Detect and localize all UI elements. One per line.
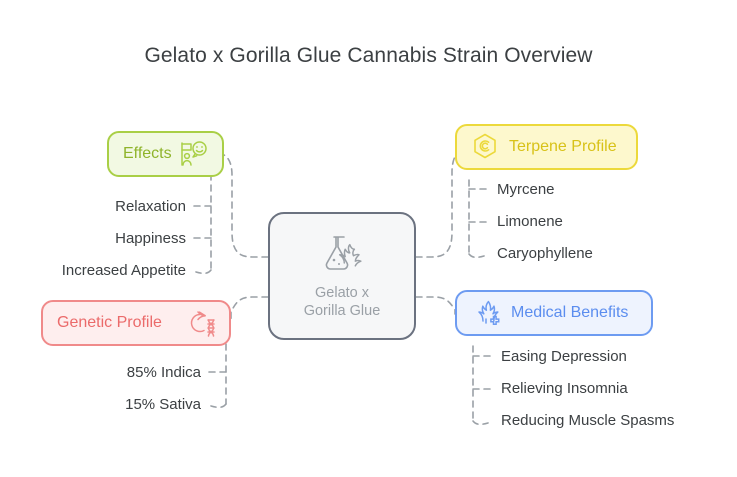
leaf-medical-1: Easing Depression (501, 348, 627, 366)
leaf-terpene-1: Myrcene (497, 181, 555, 199)
mindmap-canvas: Gelato x Gorilla Glue Cannabis Strain Ov… (0, 0, 737, 477)
dna-magnifier-icon (185, 309, 215, 337)
center-label-line2: Gorilla Glue (304, 302, 381, 320)
hexagon-spiral-icon (471, 132, 499, 162)
branch-label-terpene-profile: Terpene Profile (509, 138, 617, 156)
branch-label-genetic-profile: Genetic Profile (57, 314, 162, 332)
leaf-genetic-2: 15% Sativa (0, 396, 201, 414)
center-label-line1: Gelato x (304, 284, 381, 302)
leaf-terpene-2: Limonene (497, 213, 563, 231)
leaf-genetic-1: 85% Indica (0, 364, 201, 382)
leaf-effects-2: Happiness (0, 230, 186, 248)
leaf-medical-2: Relieving Insomnia (501, 380, 628, 398)
leaf-terpene-3: Caryophyllene (497, 245, 593, 263)
branch-label-medical-benefits: Medical Benefits (511, 304, 628, 322)
leaf-effects-1: Relaxation (0, 198, 186, 216)
branch-node-medical-benefits[interactable]: Medical Benefits (455, 290, 653, 336)
branch-label-effects: Effects (123, 145, 172, 163)
branch-node-effects[interactable]: Effects (107, 131, 224, 177)
center-node[interactable]: Gelato x Gorilla Glue (268, 212, 416, 340)
branch-node-genetic-profile[interactable]: Genetic Profile (41, 300, 231, 346)
person-flag-smiley-icon (178, 140, 208, 168)
flask-cannabis-icon (319, 233, 365, 278)
branch-node-terpene-profile[interactable]: Terpene Profile (455, 124, 638, 170)
leaf-effects-3: Increased Appetite (0, 262, 186, 280)
center-node-label: Gelato x Gorilla Glue (304, 284, 381, 320)
leaf-medical-3: Reducing Muscle Spasms (501, 412, 674, 430)
cannabis-cross-icon (471, 298, 501, 328)
